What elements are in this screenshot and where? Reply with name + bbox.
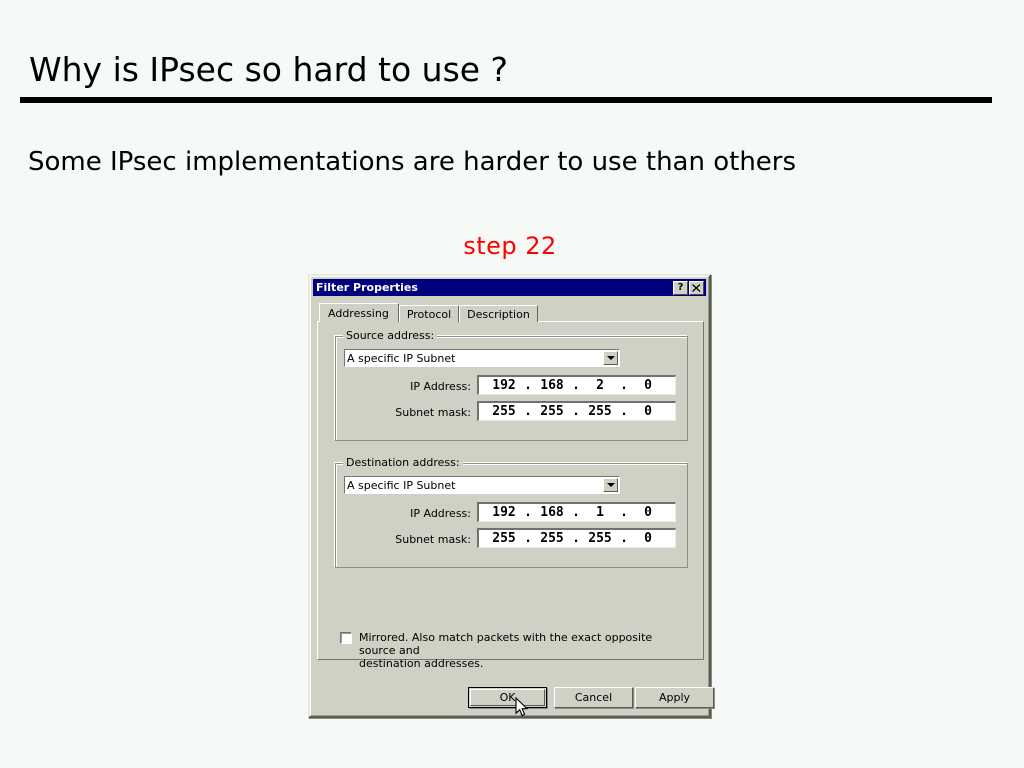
title-underline-rule xyxy=(20,97,992,103)
dialog-titlebar[interactable]: Filter Properties ? xyxy=(313,279,706,296)
ip-separator: . xyxy=(524,505,532,520)
source-mask-octet-2: 255 xyxy=(535,404,569,419)
tab-description[interactable]: Description xyxy=(459,305,538,322)
close-icon-glyph xyxy=(692,284,701,292)
ip-separator: . xyxy=(620,378,628,393)
ok-button[interactable]: OK xyxy=(468,687,547,708)
destination-ip-address-field[interactable]: 192 . 168 . 1 . 0 xyxy=(477,502,676,522)
source-mask-octet-4: 0 xyxy=(631,404,665,419)
ip-separator: . xyxy=(524,378,532,393)
ip-separator: . xyxy=(572,404,580,419)
ip-separator: . xyxy=(572,505,580,520)
step-caption-text: step 22 xyxy=(463,232,557,260)
addressing-tab-panel: Source address: A specific IP Subnet IP … xyxy=(317,321,704,660)
cancel-button[interactable]: Cancel xyxy=(554,687,633,708)
source-address-type-combo[interactable]: A specific IP Subnet xyxy=(344,349,620,367)
slide-body-text: Some IPsec implementations are harder to… xyxy=(28,146,796,178)
destination-mask-octet-1: 255 xyxy=(487,531,521,546)
source-mask-octet-3: 255 xyxy=(583,404,617,419)
dialog-title: Filter Properties xyxy=(316,281,672,294)
ok-button-label: OK xyxy=(500,691,516,704)
help-icon-glyph: ? xyxy=(678,283,684,293)
ip-separator: . xyxy=(620,531,628,546)
ip-separator: . xyxy=(524,404,532,419)
destination-subnet-mask-field[interactable]: 255 . 255 . 255 . 0 xyxy=(477,528,676,548)
ip-separator: . xyxy=(620,505,628,520)
source-ip-octet-2: 168 xyxy=(535,378,569,393)
destination-address-type-value: A specific IP Subnet xyxy=(347,479,603,492)
cancel-button-label: Cancel xyxy=(575,691,612,704)
destination-address-group: Destination address: A specific IP Subne… xyxy=(335,463,688,568)
source-address-type-value: A specific IP Subnet xyxy=(347,352,603,365)
step-caption: step 22 xyxy=(0,232,1024,260)
source-ip-octet-4: 0 xyxy=(631,378,665,393)
source-address-legend: Source address: xyxy=(343,330,437,342)
slide: Why is IPsec so hard to use ? Some IPsec… xyxy=(0,0,1024,768)
destination-ip-octet-3: 1 xyxy=(583,505,617,520)
source-ip-octet-3: 2 xyxy=(583,378,617,393)
source-ip-address-label: IP Address: xyxy=(396,380,471,393)
tab-protocol-label: Protocol xyxy=(407,308,451,321)
ip-separator: . xyxy=(620,404,628,419)
tab-description-label: Description xyxy=(467,308,530,321)
mirrored-checkbox-label: Mirrored. Also match packets with the ex… xyxy=(359,631,675,670)
source-subnet-mask-field[interactable]: 255 . 255 . 255 . 0 xyxy=(477,401,676,421)
destination-mask-octet-2: 255 xyxy=(535,531,569,546)
source-ip-address-field[interactable]: 192 . 168 . 2 . 0 xyxy=(477,375,676,395)
chevron-down-icon[interactable] xyxy=(603,478,618,492)
tab-protocol[interactable]: Protocol xyxy=(399,305,459,322)
page-title: Why is IPsec so hard to use ? xyxy=(29,50,508,90)
chevron-down-icon[interactable] xyxy=(603,351,618,365)
mirrored-label-line2: destination addresses. xyxy=(359,657,483,670)
ip-separator: . xyxy=(572,378,580,393)
mirrored-checkbox[interactable] xyxy=(340,632,352,644)
destination-subnet-mask-label: Subnet mask: xyxy=(386,533,471,546)
dialog-button-row: OK Cancel Apply xyxy=(310,687,709,711)
chevron-down-glyph xyxy=(607,483,615,487)
tab-strip: Addressing Protocol Description xyxy=(319,303,538,322)
chevron-down-glyph xyxy=(607,356,615,360)
ip-separator: . xyxy=(572,531,580,546)
apply-button-label: Apply xyxy=(659,691,690,704)
tab-addressing-label: Addressing xyxy=(328,307,389,320)
mirrored-checkbox-row[interactable]: Mirrored. Also match packets with the ex… xyxy=(340,631,675,670)
destination-mask-octet-3: 255 xyxy=(583,531,617,546)
ip-separator: . xyxy=(524,531,532,546)
apply-button[interactable]: Apply xyxy=(635,687,714,708)
destination-address-legend: Destination address: xyxy=(343,457,463,469)
destination-ip-octet-2: 168 xyxy=(535,505,569,520)
destination-ip-address-label: IP Address: xyxy=(396,507,471,520)
source-mask-octet-1: 255 xyxy=(487,404,521,419)
destination-mask-octet-4: 0 xyxy=(631,531,665,546)
destination-ip-octet-1: 192 xyxy=(487,505,521,520)
source-subnet-mask-label: Subnet mask: xyxy=(386,406,471,419)
mirrored-label-line1: Mirrored. Also match packets with the ex… xyxy=(359,631,652,657)
filter-properties-dialog: Filter Properties ? Addressing Protocol … xyxy=(308,274,711,718)
tab-addressing[interactable]: Addressing xyxy=(319,303,399,322)
source-ip-octet-1: 192 xyxy=(487,378,521,393)
destination-address-type-combo[interactable]: A specific IP Subnet xyxy=(344,476,620,494)
close-icon[interactable] xyxy=(689,281,704,295)
help-icon[interactable]: ? xyxy=(673,281,688,295)
destination-ip-octet-4: 0 xyxy=(631,505,665,520)
source-address-group: Source address: A specific IP Subnet IP … xyxy=(335,336,688,441)
